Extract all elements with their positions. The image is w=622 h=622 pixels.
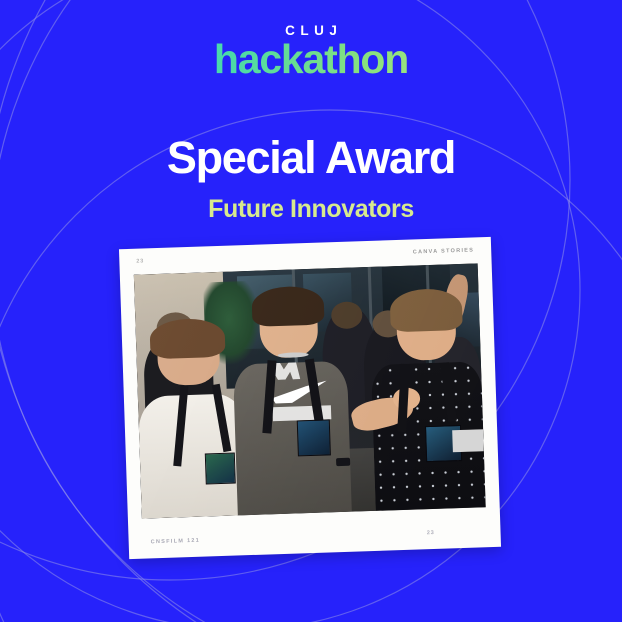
photo-window bbox=[134, 263, 486, 518]
logo-hackathon-text: hackathon bbox=[0, 39, 622, 80]
frame-label-top-right: CANVA STORIES bbox=[413, 247, 475, 255]
page-subtitle: Future Innovators bbox=[0, 196, 622, 224]
polaroid-frame: 23 CANVA STORIES CNSFILM 121 23 bbox=[119, 237, 501, 559]
event-logo: CLUJ hackathon bbox=[0, 24, 622, 80]
event-photo bbox=[134, 263, 486, 518]
frame-label-top-left: 23 bbox=[136, 258, 144, 264]
frame-label-bottom-right: 23 bbox=[427, 530, 435, 536]
photo-grain-overlay bbox=[134, 263, 486, 518]
page-title: Special Award bbox=[0, 134, 622, 181]
poster-canvas: CLUJ hackathon Special Award Future Inno… bbox=[0, 0, 622, 622]
frame-label-bottom-left: CNSFILM 121 bbox=[151, 538, 201, 546]
